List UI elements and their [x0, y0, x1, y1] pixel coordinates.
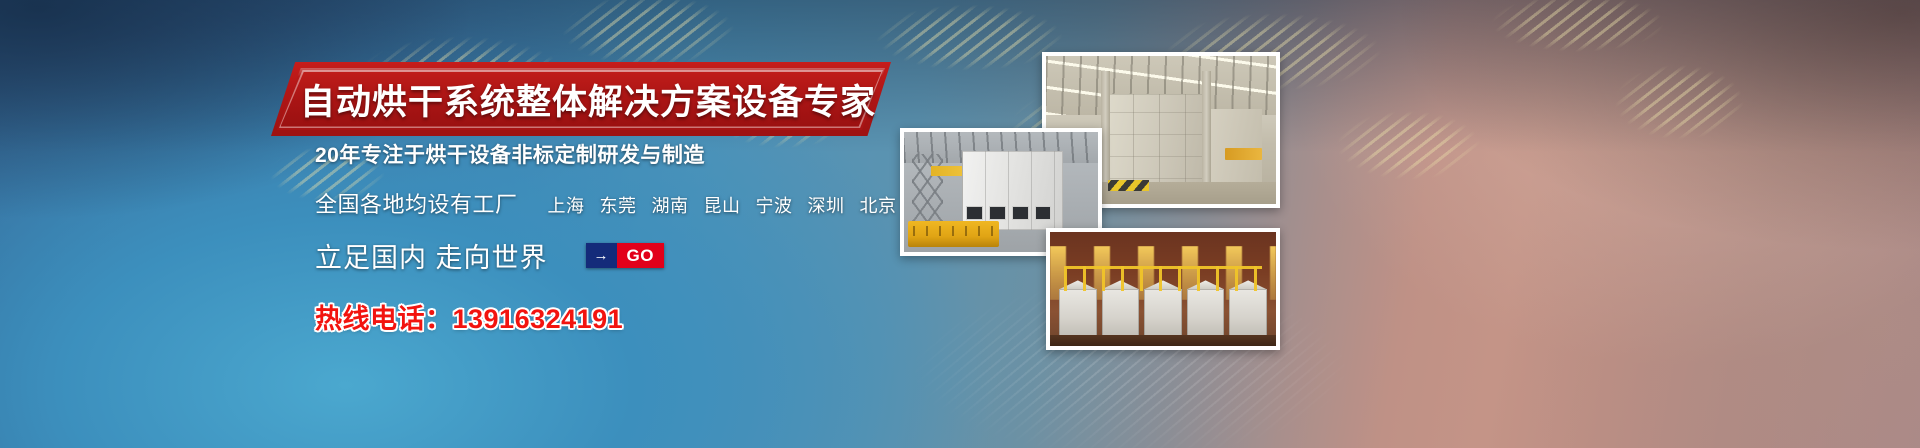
booth-window — [966, 206, 983, 219]
hazard-stripe — [1108, 180, 1149, 190]
factory-locations-heading: 全国各地均设有工厂 — [315, 187, 518, 219]
photo-inner — [1050, 232, 1276, 346]
city-item: 湖南 — [652, 192, 689, 218]
title-ribbon: 自动烘干系统整体解决方案设备专家 — [271, 62, 891, 136]
steel-column — [1101, 71, 1110, 198]
banner-slogan: 立足国内 走向世界 — [315, 236, 548, 275]
city-item: 上海 — [548, 192, 585, 218]
yellow-transfer-cart — [908, 221, 999, 247]
yellow-safety-railing — [1064, 266, 1263, 291]
city-item: 昆山 — [704, 192, 741, 218]
go-button-label: GO — [617, 243, 664, 268]
city-list: 上海 东莞 湖南 昆山 宁波 深圳 北京 天津 — [548, 192, 949, 218]
city-item: 北京 — [860, 192, 897, 218]
steel-column — [1202, 71, 1211, 198]
steel-truss — [912, 154, 943, 224]
go-button[interactable]: → GO — [586, 243, 664, 268]
booth-windows — [966, 206, 1051, 219]
city-item: 东莞 — [600, 192, 637, 218]
arrow-right-icon: → — [586, 243, 617, 268]
booth-window — [989, 206, 1006, 219]
factory-floor — [1050, 335, 1276, 346]
booth-window — [1035, 206, 1052, 219]
booth-window — [1012, 206, 1029, 219]
city-item: 深圳 — [808, 192, 845, 218]
photo-row-of-drying-chambers-warm-lit — [1046, 228, 1280, 350]
overhead-crane — [1225, 148, 1262, 160]
banner-headline: 自动烘干系统整体解决方案设备专家 — [271, 62, 891, 136]
hotline-phone: 热线电话：13916324191 — [315, 297, 1055, 336]
promo-banner: 自动烘干系统整体解决方案设备专家 20年专注于烘干设备非标定制研发与制造 全国各… — [0, 0, 1920, 448]
city-item: 宁波 — [756, 192, 793, 218]
